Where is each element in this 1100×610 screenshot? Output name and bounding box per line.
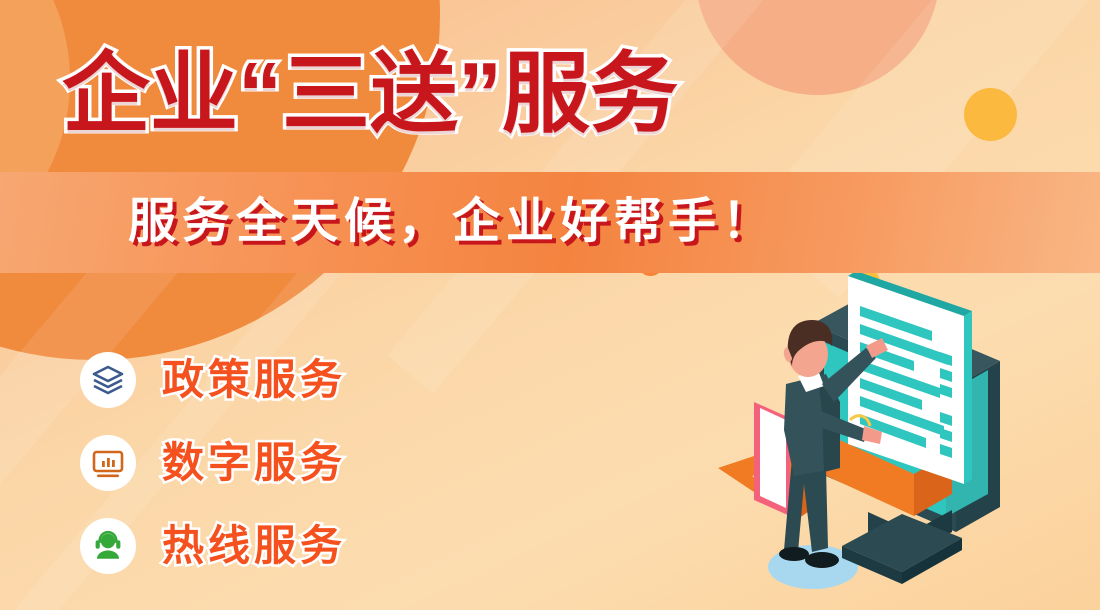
isometric-illustration — [700, 262, 1100, 610]
monitor-chart-icon — [80, 435, 136, 491]
banner-title: 企业“三送”服务 — [62, 46, 678, 142]
banner-subtitle: 服务全天候，企业好帮手！ — [128, 186, 776, 258]
service-item-hotline[interactable]: 热线服务 — [80, 504, 346, 587]
service-item-policy[interactable]: 政策服务 — [80, 338, 346, 421]
service-item-digital[interactable]: 数字服务 — [80, 421, 346, 504]
service-list: 政策服务 数字服务 — [80, 338, 346, 587]
promo-banner: 企业“三送”服务 服务全天候，企业好帮手！ 政策服务 — [0, 0, 1100, 610]
headset-agent-icon — [80, 518, 136, 574]
service-label-policy: 政策服务 — [162, 354, 346, 406]
service-label-hotline: 热线服务 — [162, 520, 346, 572]
bg-circle-yellow-right — [964, 88, 1017, 141]
layers-icon — [80, 352, 136, 408]
service-label-digital: 数字服务 — [162, 437, 346, 489]
